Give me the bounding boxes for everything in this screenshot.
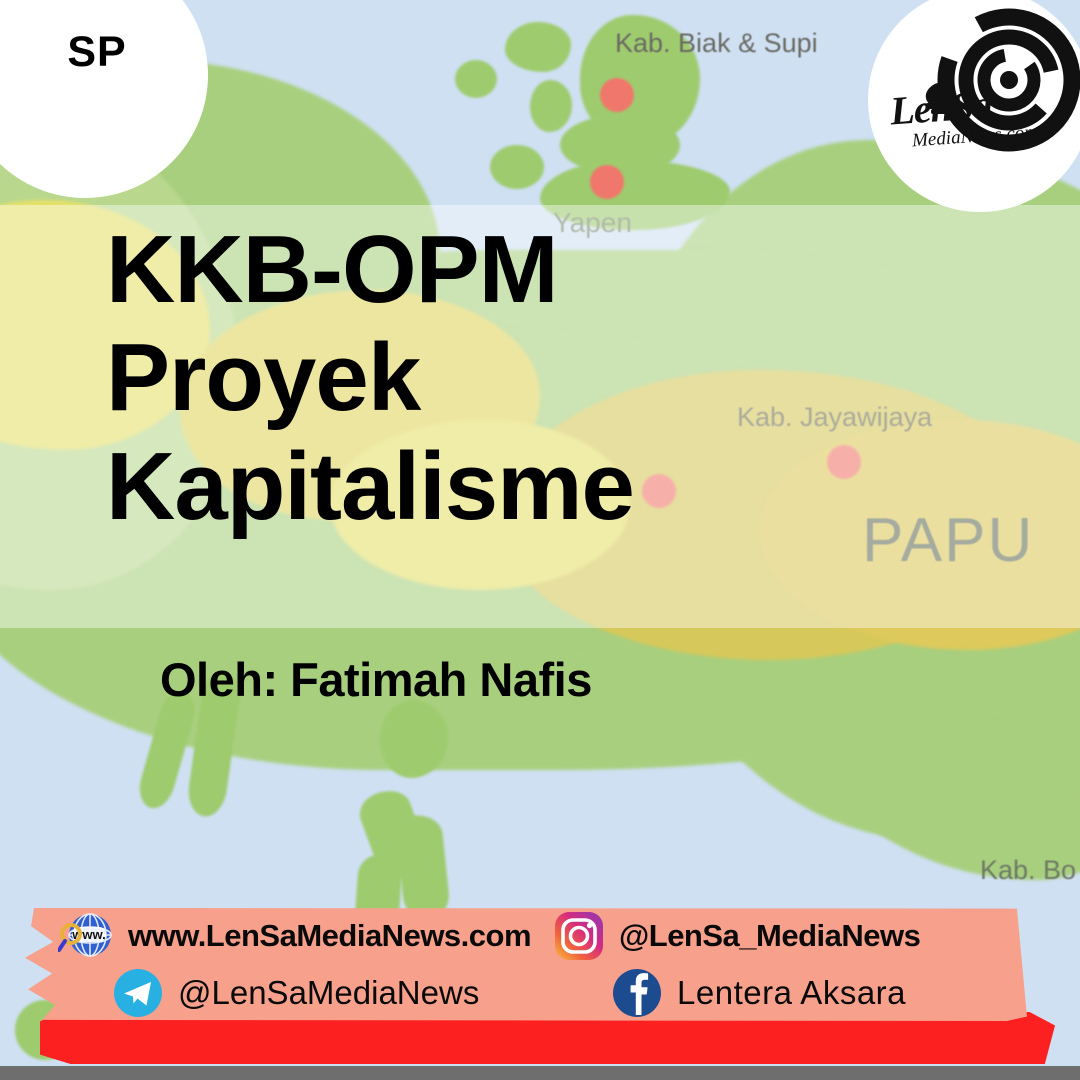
byline: Oleh: Fatimah Nafis bbox=[160, 652, 592, 707]
footer-instagram-label: @LenSa_MediaNews bbox=[619, 918, 920, 954]
globe-www-search-icon: www. bbox=[58, 911, 114, 961]
footer-telegram-label: @LenSaMediaNews bbox=[178, 974, 479, 1012]
map-marker-yapen bbox=[590, 165, 624, 199]
island-north-5 bbox=[490, 145, 544, 189]
island-north-2 bbox=[455, 60, 497, 98]
footer-website-label: www.LenSaMediaNews.com bbox=[128, 918, 531, 954]
facebook-icon bbox=[611, 967, 663, 1019]
footer-facebook-label: Lentera Aksara bbox=[677, 974, 906, 1012]
map-marker-biak bbox=[600, 78, 634, 112]
footer-instagram[interactable]: @LenSa_MediaNews bbox=[531, 910, 1027, 962]
headline: KKB-OPM Proyek Kapitalisme bbox=[106, 216, 896, 541]
footer-facebook[interactable]: Lentera Aksara bbox=[531, 967, 1027, 1019]
footer-telegram[interactable]: @LenSaMediaNews bbox=[22, 967, 531, 1019]
instagram-icon bbox=[553, 910, 605, 962]
bottom-bar bbox=[0, 1066, 1080, 1080]
headline-line-1: KKB-OPM bbox=[106, 216, 896, 324]
island-north-1 bbox=[505, 22, 571, 72]
footer-contacts: www. www.LenSaMediaNews.com bbox=[22, 908, 1027, 1021]
social-media-poster: Kab. Biak & Supi Yapen Kab. Jayawijaya P… bbox=[0, 0, 1080, 1080]
footer-website[interactable]: www. www.LenSaMediaNews.com bbox=[22, 911, 531, 961]
headline-line-2: Proyek bbox=[106, 324, 896, 432]
map-label-biak: Kab. Biak & Supi bbox=[615, 28, 818, 59]
map-label-bo: Kab. Bo bbox=[980, 855, 1076, 886]
brand-logo[interactable]: LenSa MediaNews.com bbox=[868, 0, 1080, 212]
headline-line-3: Kapitalisme bbox=[106, 433, 896, 541]
telegram-icon bbox=[112, 967, 164, 1019]
sp-badge-label: SP bbox=[67, 28, 126, 77]
